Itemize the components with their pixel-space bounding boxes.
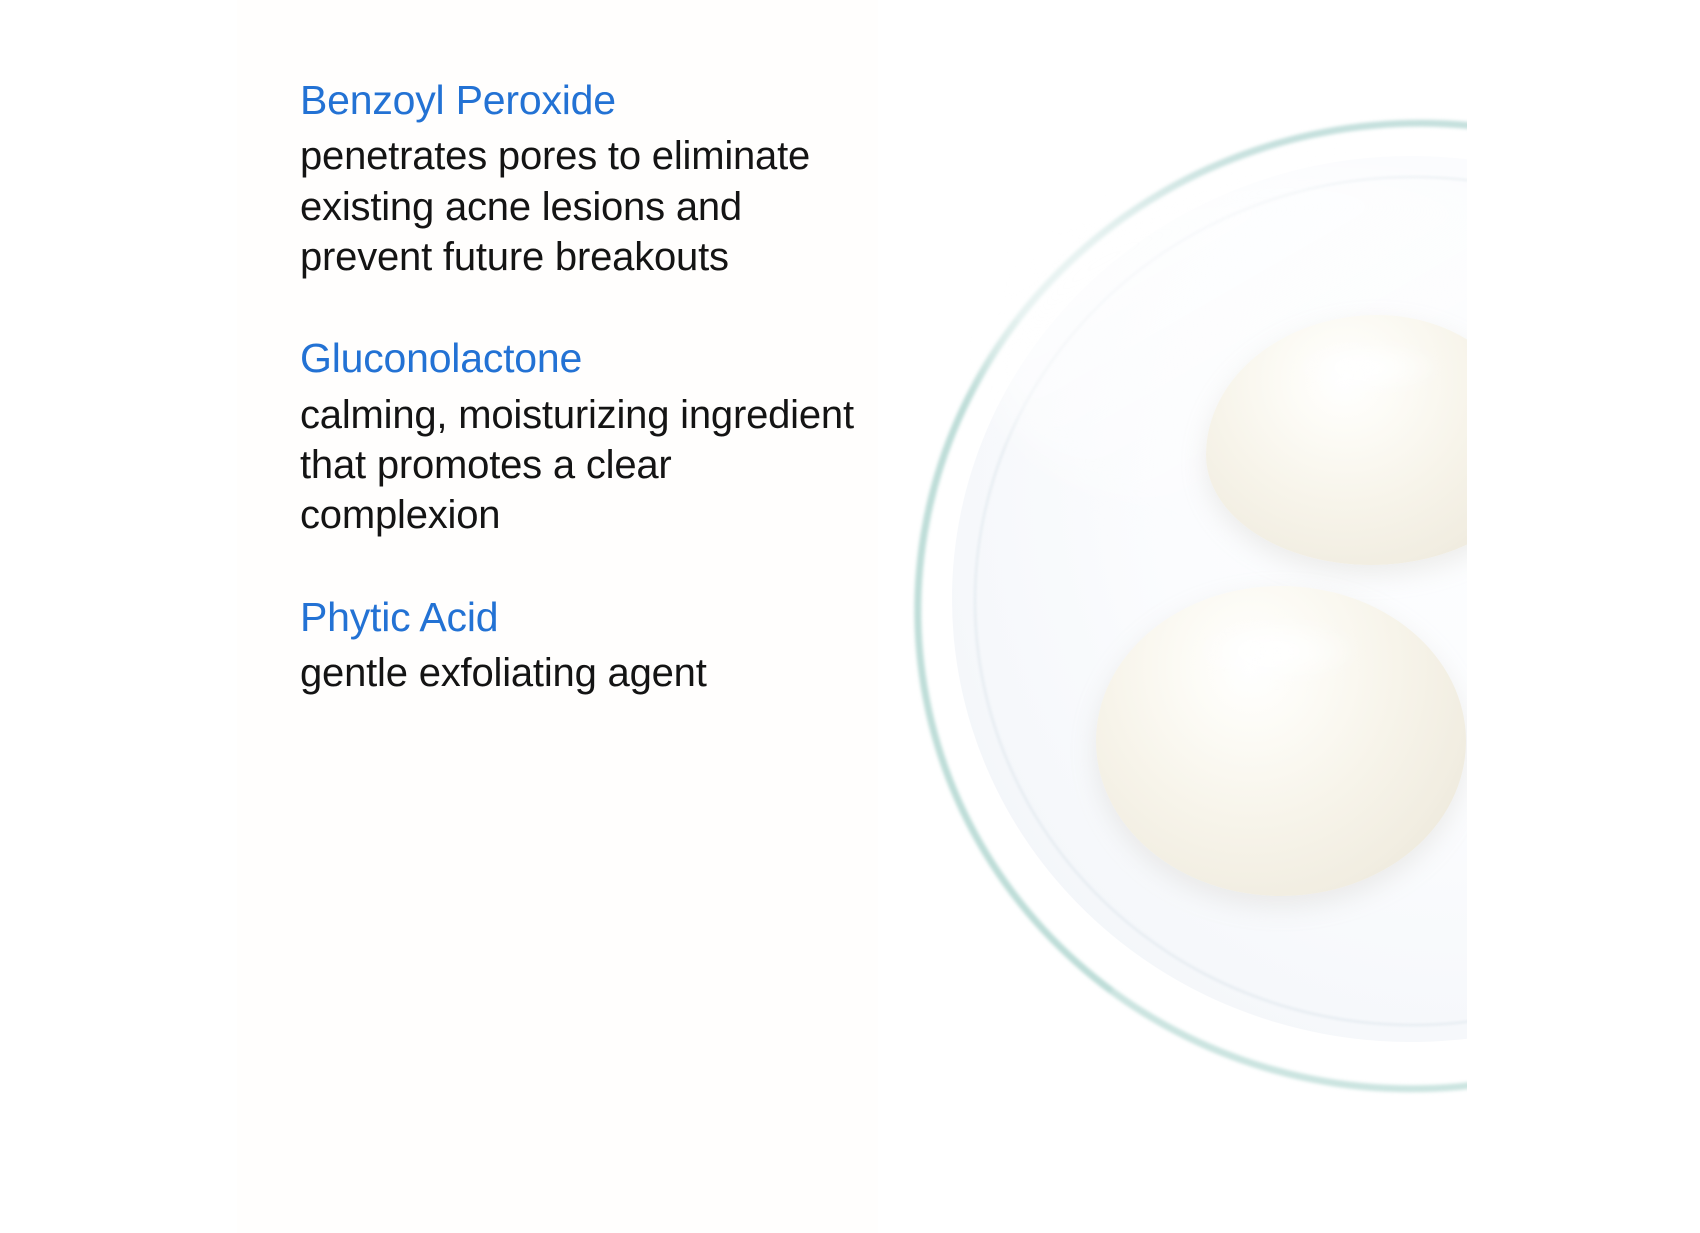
ingredient-block-phytic-acid: Phytic Acid gentle exfoliating agent	[300, 593, 870, 699]
ingredient-name: Benzoyl Peroxide	[300, 76, 870, 125]
product-photo	[878, 0, 1467, 1233]
ingredient-description: penetrates pores to eliminate existing a…	[300, 131, 870, 282]
ingredient-name: Phytic Acid	[300, 593, 870, 642]
ingredient-description: calming, moisturizing ingredient that pr…	[300, 390, 870, 541]
ingredient-name: Gluconolactone	[300, 334, 870, 383]
petri-dish-icon	[878, 0, 1467, 1233]
ingredient-block-benzoyl-peroxide: Benzoyl Peroxide penetrates pores to eli…	[300, 76, 870, 282]
ingredient-block-gluconolactone: Gluconolactone calming, moisturizing ing…	[300, 334, 870, 540]
ingredient-list: Benzoyl Peroxide penetrates pores to eli…	[300, 76, 870, 698]
photo-crop-edge	[1467, 0, 1700, 1233]
cream-dome-lower	[1096, 586, 1466, 896]
ingredient-benefits-panel: Benzoyl Peroxide penetrates pores to eli…	[0, 0, 1700, 1233]
ingredient-description: gentle exfoliating agent	[300, 648, 870, 698]
